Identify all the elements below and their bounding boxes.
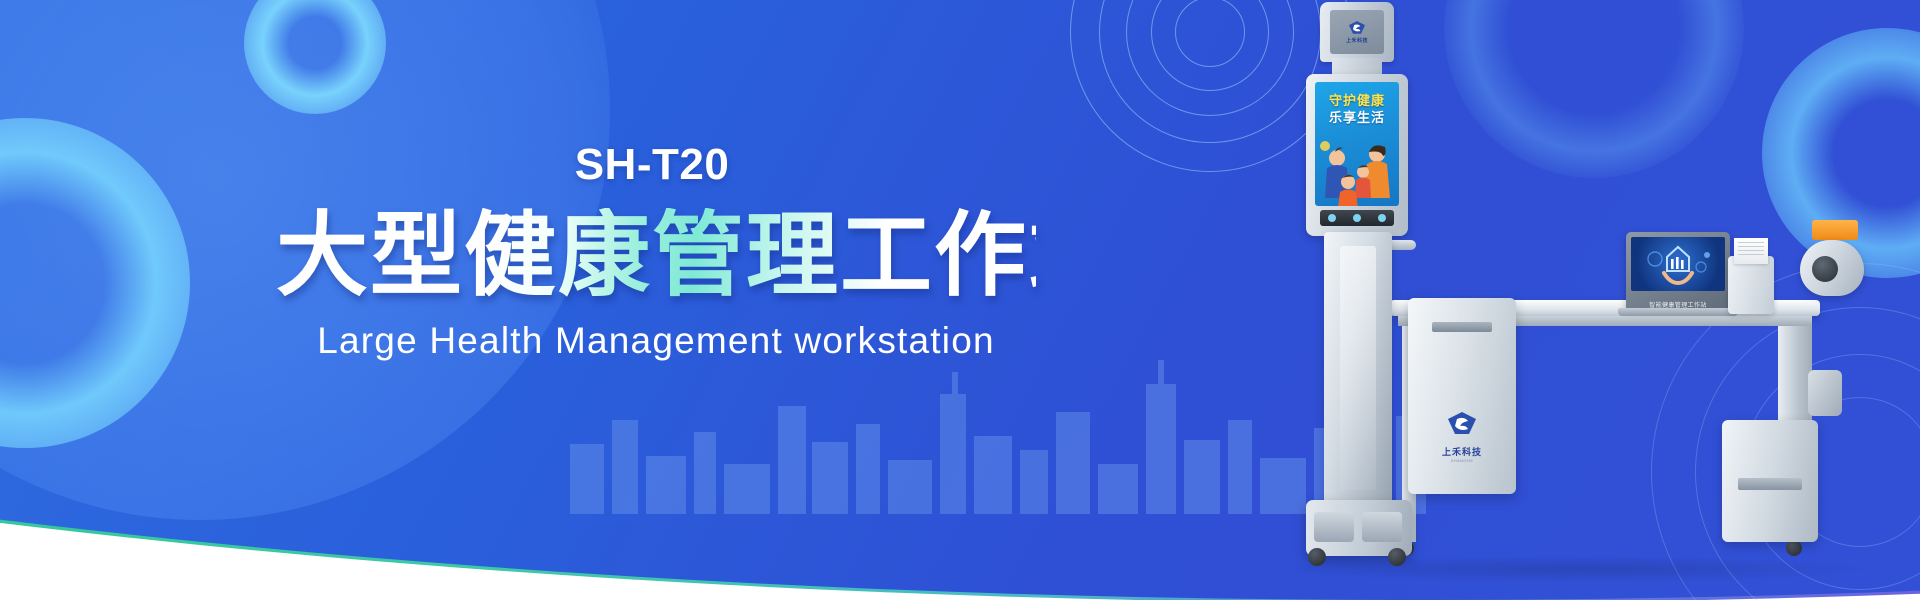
kiosk-slogan-line2: 乐享生活 [1315, 107, 1399, 126]
page-title: 大型健康管理工作站 [276, 208, 1036, 306]
storage-cabinet: 上禾科技 SHANGHE [1408, 298, 1516, 494]
product-photo: 上禾科技 SHANGHE [1270, 0, 1920, 600]
cuff-holder [1808, 370, 1842, 416]
cabinet-handle-slot [1432, 322, 1492, 332]
laptop-icon: 智能健康管理工作站 [1626, 232, 1730, 310]
workstation-desk: 上禾科技 SHANGHE [1390, 300, 1820, 580]
hands-holding-home-icon [1631, 237, 1725, 291]
health-kiosk-icon: 上禾科技 守护健康 乐享生活 [1298, 0, 1418, 600]
laptop-lid: 智能健康管理工作站 [1626, 232, 1730, 310]
cabinet-logo-en: SHANGHE [1408, 458, 1516, 463]
laptop-screen [1631, 237, 1725, 291]
brand-mark-icon [1445, 410, 1479, 438]
desk-caster [1786, 540, 1802, 556]
kiosk-screen: 守护健康 乐享生活 [1315, 82, 1399, 206]
family-illustration-icon [1315, 132, 1399, 206]
kiosk-sensor-row [1320, 210, 1394, 226]
kiosk-display-panel: 守护健康 乐享生活 [1306, 74, 1408, 236]
blood-pressure-arm-icon [1778, 240, 1864, 314]
kiosk-column [1324, 232, 1392, 504]
arm-unit-head [1800, 240, 1864, 296]
printed-report-paper [1734, 238, 1768, 264]
kiosk-head-logo-text: 上禾科技 [1346, 37, 1368, 44]
kiosk-head-screen: 上禾科技 [1330, 10, 1384, 54]
banner-copy-block: SH-T20 大型健康管理工作站 Large Health Management… [276, 140, 1036, 362]
right-side-module [1722, 420, 1818, 542]
kiosk-footpad-right [1362, 512, 1402, 542]
laptop-base [1618, 308, 1738, 316]
kiosk-footpad-left [1314, 512, 1354, 542]
kiosk-caster-right [1388, 548, 1406, 566]
product-hero-banner: SH-T20 大型健康管理工作站 Large Health Management… [0, 0, 1920, 600]
arm-unit-top-strip [1812, 220, 1858, 240]
subtitle: Large Health Management workstation [276, 320, 1036, 362]
kiosk-caster-left [1308, 548, 1326, 566]
kiosk-head: 上禾科技 [1320, 2, 1394, 62]
model-code: SH-T20 [268, 140, 1036, 190]
cabinet-logo-cn: 上禾科技 [1408, 445, 1516, 458]
shanghe-logo-icon: 上禾科技 SHANGHE [1408, 410, 1516, 463]
printer-icon [1728, 256, 1774, 314]
shanghe-logo-icon [1347, 20, 1367, 36]
